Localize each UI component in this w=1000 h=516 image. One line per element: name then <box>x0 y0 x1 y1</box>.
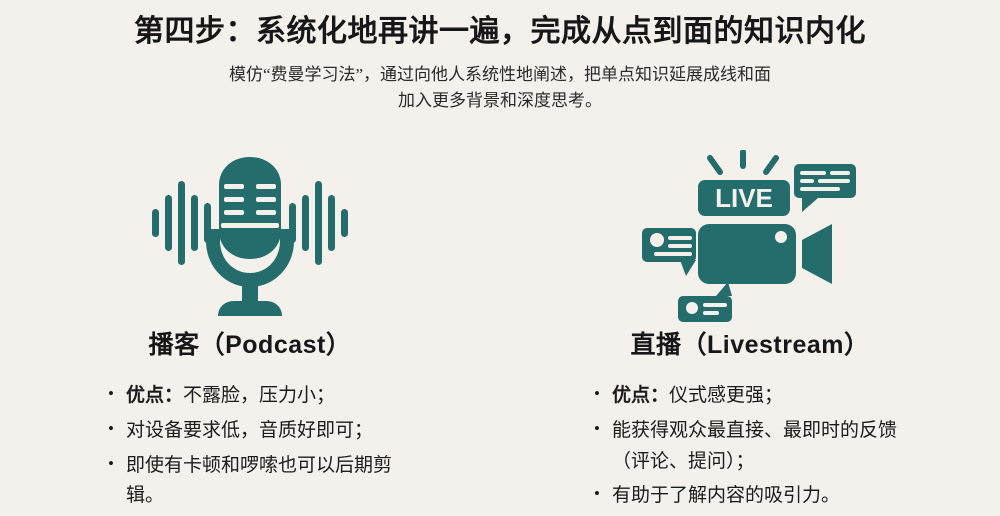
subtitle-line-1: 模仿“费曼学习法”，通过向他人系统性地阐述，把单点知识延展成线和面 <box>160 62 840 88</box>
live-badge-label: LIVE <box>715 183 773 213</box>
column-heading-livestream: 直播（Livestream） <box>630 325 869 361</box>
slide-header: 第四步：系统化地再讲一遍，完成从点到面的知识内化 模仿“费曼学习法”，通过向他人… <box>0 0 1000 115</box>
microphone-icon <box>150 151 350 321</box>
live-video-camera-icon: LIVE <box>636 150 864 322</box>
slide-subtitle: 模仿“费曼学习法”，通过向他人系统性地阐述，把单点知识延展成线和面 加入更多背景… <box>160 62 840 115</box>
bullet-text: 不露脸，压力小； <box>183 385 335 406</box>
sparkle-rays-icon <box>710 152 776 172</box>
column-livestream: LIVE <box>500 148 1000 516</box>
speech-bubble-left <box>642 228 696 276</box>
list-item: 对设备要求低，音质好即可； <box>108 416 408 447</box>
bullet-text: 有助于了解内容的吸引力。 <box>612 485 840 506</box>
speech-bubble-bottom <box>678 282 732 322</box>
speech-bubble-top-right <box>794 164 856 212</box>
bullet-lead: 优点： <box>612 385 669 406</box>
list-item: 即使有卡顿和啰嗦也可以后期剪辑。 <box>108 451 408 513</box>
bullet-text: 对设备要求低，音质好即可； <box>126 420 373 441</box>
podcast-bullet-list: 优点：不露脸，压力小； 对设备要求低，音质好即可； 即使有卡顿和啰嗦也可以后期剪… <box>108 381 408 516</box>
list-item: 能获得观众最直接、最即时的反馈（评论、提问）； <box>594 416 914 478</box>
podcast-icon-box <box>150 148 350 323</box>
list-item: 有助于了解内容的吸引力。 <box>594 481 914 512</box>
camera-lens <box>802 224 832 284</box>
comparison-columns: 播客（Podcast） 优点：不露脸，压力小； 对设备要求低，音质好即可； 即使… <box>0 148 1000 516</box>
bullet-text: 仪式感更强； <box>669 385 783 406</box>
camera-record-dot <box>775 231 787 243</box>
list-item: 优点：仪式感更强； <box>594 381 914 412</box>
bullet-text: 即使有卡顿和啰嗦也可以后期剪辑。 <box>126 455 392 507</box>
column-heading-podcast: 播客（Podcast） <box>149 325 352 361</box>
page-title: 第四步：系统化地再讲一遍，完成从点到面的知识内化 <box>0 14 1000 50</box>
slide-root: 第四步：系统化地再讲一遍，完成从点到面的知识内化 模仿“费曼学习法”，通过向他人… <box>0 0 1000 506</box>
subtitle-line-2: 加入更多背景和深度思考。 <box>160 88 840 114</box>
livestream-bullet-list: 优点：仪式感更强； 能获得观众最直接、最即时的反馈（评论、提问）； 有助于了解内… <box>594 381 914 516</box>
bullet-lead: 优点： <box>126 385 183 406</box>
livestream-icon-box: LIVE <box>636 148 864 323</box>
list-item: 优点：不露脸，压力小； <box>108 381 408 412</box>
bullet-text: 能获得观众最直接、最即时的反馈（评论、提问）； <box>612 420 897 472</box>
column-podcast: 播客（Podcast） 优点：不露脸，压力小； 对设备要求低，音质好即可； 即使… <box>0 148 500 516</box>
